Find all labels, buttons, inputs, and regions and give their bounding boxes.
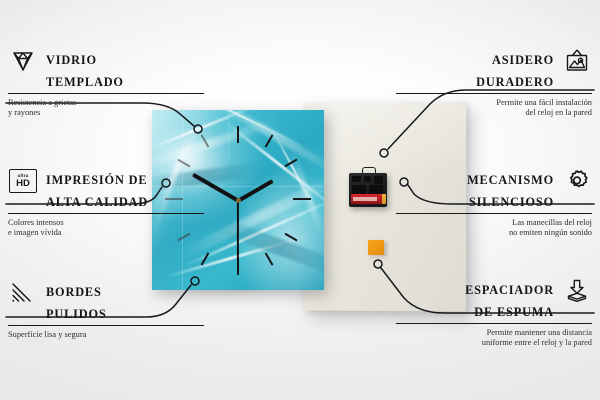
feature-bordes-pulidos[interactable]: BORDES PULIDOS Superficie lisa y segura <box>8 278 204 340</box>
mechanism-detail <box>352 185 366 194</box>
feature-divider <box>8 213 204 214</box>
mechanism-battery <box>351 194 383 204</box>
feature-espaciador-de-espuma[interactable]: ESPACIADOR DE ESPUMA Permite mantener un… <box>396 276 592 349</box>
feature-title: ESPACIADOR <box>465 284 554 298</box>
feature-header: VIDRIO <box>8 46 204 76</box>
clock-tick-12 <box>237 126 239 143</box>
feature-title-line2: SILENCIOSO <box>396 196 592 210</box>
picture-hanger-icon <box>562 46 592 76</box>
feature-title-line2: PULIDOS <box>8 308 204 322</box>
feature-description: Permite mantener una distancia uniforme … <box>396 328 592 349</box>
feature-divider <box>8 325 204 326</box>
gear-icon <box>562 166 592 196</box>
feature-description: Resistencia a grietas y rayones <box>8 98 204 119</box>
feature-description: Colores intensos e imagen vívida <box>8 218 204 239</box>
product-infographic: VIDRIO TEMPLADO Resistencia a grietas y … <box>0 0 600 400</box>
battery-positive-tip <box>382 194 386 204</box>
feature-description: Las manecillas del reloj no emiten ningú… <box>396 218 592 239</box>
polished-edges-icon <box>8 278 38 308</box>
foam-spacer-side <box>384 242 388 256</box>
feature-header: ASIDERO <box>396 46 592 76</box>
battery-label <box>353 197 377 201</box>
feature-divider <box>8 93 204 94</box>
mechanism-detail <box>369 185 383 194</box>
feature-title: ASIDERO <box>492 54 554 68</box>
feature-title: VIDRIO <box>46 54 97 68</box>
feature-vidrio-templado[interactable]: VIDRIO TEMPLADO Resistencia a grietas y … <box>8 46 204 119</box>
hd-badge-hd-text: HD <box>16 179 30 189</box>
foam-spacer-icon <box>562 276 592 306</box>
feature-title: BORDES <box>46 286 102 300</box>
diamond-icon <box>8 46 38 76</box>
feature-divider <box>396 213 592 214</box>
clock-mechanism <box>349 167 387 207</box>
ultra-hd-badge-icon: ultra HD <box>8 166 38 196</box>
feature-description: Superficie lisa y segura <box>8 330 204 341</box>
clock-second-hand <box>237 200 239 262</box>
feature-mecanismo-silencioso[interactable]: MECANISMO SILENCIOSO Las manecillas del … <box>396 166 592 239</box>
feature-impresion-alta-calidad[interactable]: ultra HD IMPRESIÓN DE ALTA CALIDAD Color… <box>8 166 204 239</box>
feature-divider <box>396 93 592 94</box>
feature-header: MECANISMO <box>396 166 592 196</box>
foam-spacer <box>368 240 384 255</box>
feature-asidero-duradero[interactable]: ASIDERO DURADERO Permite una fácil insta… <box>396 46 592 119</box>
feature-header: ultra HD IMPRESIÓN DE <box>8 166 204 196</box>
feature-description: Permite una fácil instalación del reloj … <box>396 98 592 119</box>
mechanism-detail <box>364 176 371 182</box>
feature-header: ESPACIADOR <box>396 276 592 306</box>
clock-center-cap <box>236 198 241 203</box>
feature-header: BORDES <box>8 278 204 308</box>
feature-title: IMPRESIÓN DE <box>46 174 147 188</box>
feature-title: MECANISMO <box>467 174 554 188</box>
feature-title-line2: ALTA CALIDAD <box>8 196 204 210</box>
feature-title-line2: DURADERO <box>396 76 592 90</box>
feature-title-line2: TEMPLADO <box>8 76 204 90</box>
feature-divider <box>396 323 592 324</box>
mechanism-detail <box>374 176 383 184</box>
mechanism-detail <box>352 176 361 182</box>
feature-title-line2: DE ESPUMA <box>396 306 592 320</box>
